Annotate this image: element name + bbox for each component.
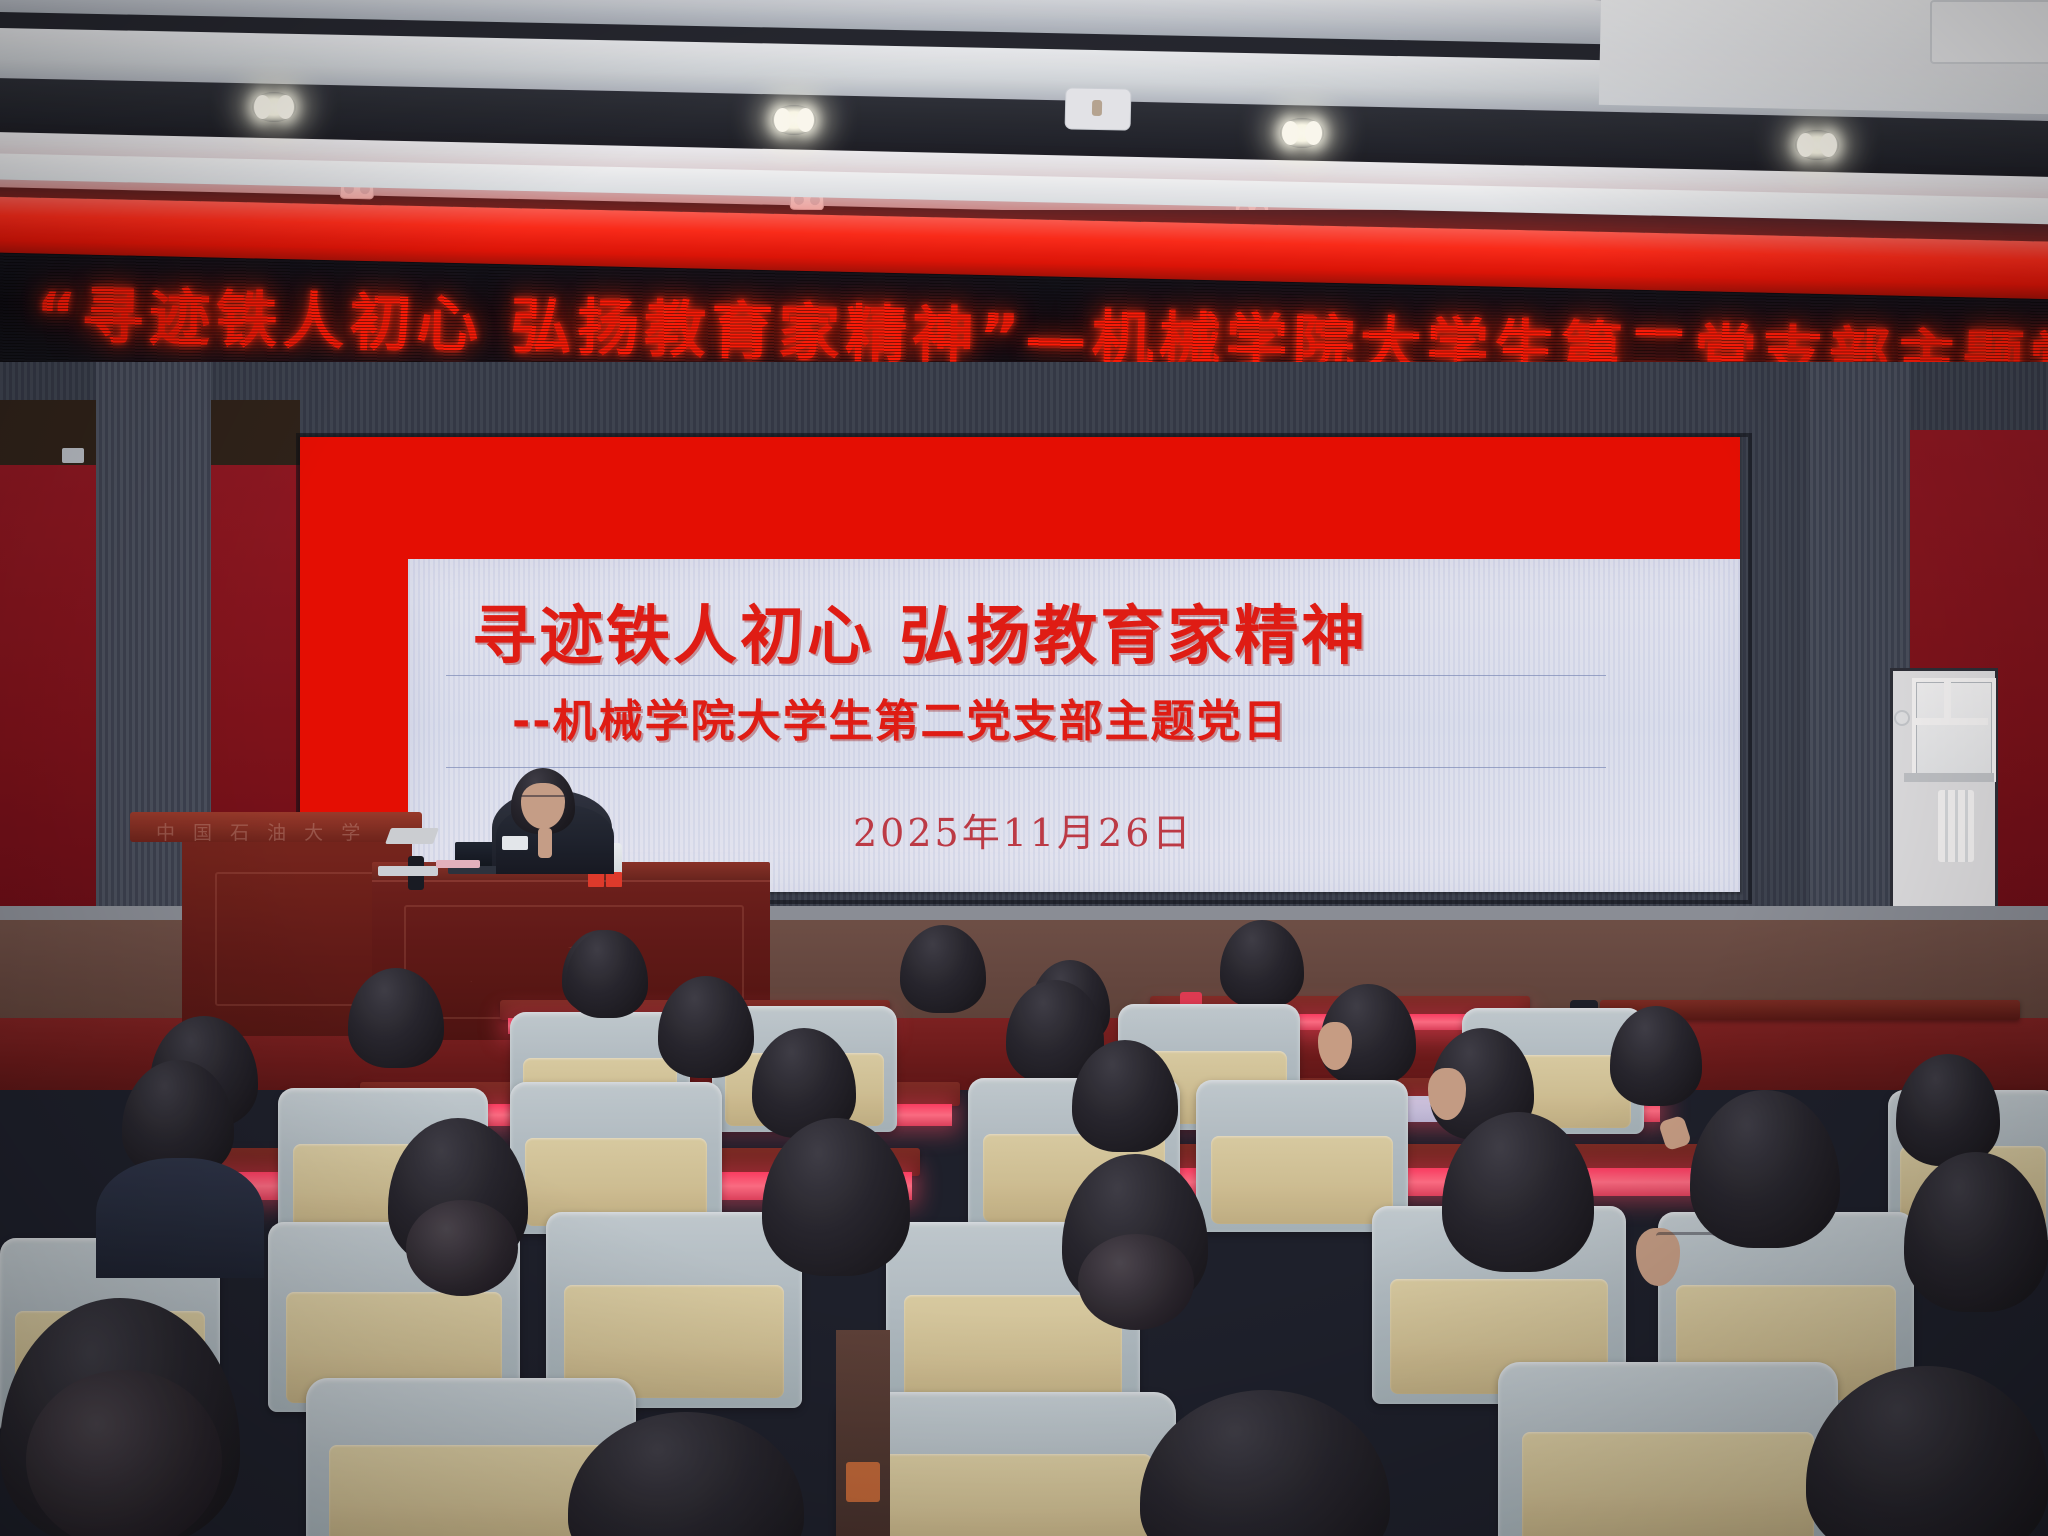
slide-date: 2025年11月26日: [853, 802, 1193, 857]
ceiling-spotlight-icon: [1795, 130, 1839, 160]
audience-hair-bun: [406, 1200, 518, 1296]
bottle-label: [588, 872, 604, 887]
paper-icon: [436, 860, 480, 868]
slide-divider: [446, 767, 1606, 768]
ceiling-vent-icon: [1065, 87, 1132, 130]
audience-head: [1690, 1090, 1840, 1248]
ceiling-spotlight-icon: [252, 92, 296, 122]
podium-engraving: 中 国 石 油 大 学: [156, 818, 366, 845]
wall-sign-icon: [1894, 710, 1910, 726]
ceiling-spotlight-icon: [772, 105, 816, 135]
audience-hair-bun: [26, 1370, 222, 1536]
auditorium-seat: [1498, 1362, 1838, 1536]
lecture-hall-photo: “寻迹铁人初心 弘扬教育家精神”—机械学院大学生第二党支部主题党日 寻迹铁人初心…: [0, 0, 2048, 1536]
audience-head-foreground: [1140, 1390, 1390, 1536]
podium-shelf: [385, 828, 439, 844]
slide-title: 寻迹铁人初心 弘扬教育家精神: [472, 585, 1368, 677]
radiator-icon: [1938, 790, 1974, 862]
ceiling-panel: [1930, 0, 2048, 64]
wall-switch-icon: [62, 448, 84, 463]
auditorium-seat: [1196, 1080, 1408, 1232]
name-badge: [502, 836, 528, 850]
audience-head: [762, 1118, 910, 1276]
slide-subtitle: --机械学院大学生第二党支部主题党日: [512, 685, 1289, 749]
audience-shoulders: [96, 1158, 264, 1278]
slide-divider: [446, 675, 1606, 676]
ceiling-spotlight-icon: [1280, 118, 1324, 148]
window-sill: [1904, 773, 1994, 782]
glasses-icon: [1656, 1232, 1714, 1247]
audience-hair-bun: [1078, 1234, 1194, 1330]
speaker-neck: [538, 828, 552, 858]
window-mullion: [1944, 678, 1951, 720]
podium-panel: [215, 872, 384, 1006]
document-icon: [378, 866, 438, 876]
aisle-floor: [836, 1330, 890, 1536]
floor-marker-icon: [846, 1462, 880, 1502]
bottle-label: [606, 872, 622, 887]
corridor-window: [1912, 678, 1996, 782]
glasses-icon: [519, 795, 567, 807]
